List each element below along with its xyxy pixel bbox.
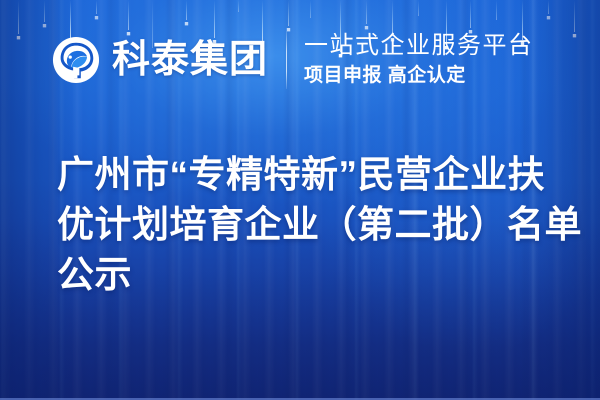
promo-banner: 科泰集团 一站式企业服务平台 项目申报 高企认定 广州市“专精特新”民营企业扶 … (0, 0, 600, 400)
header-divider (286, 31, 287, 89)
ketai-logo-icon (52, 36, 100, 84)
brand-name: 科泰集团 (112, 38, 268, 82)
banner-header: 科泰集团 一站式企业服务平台 项目申报 高企认定 (52, 28, 534, 92)
headline-line-3: 公示 (57, 250, 557, 300)
headline-line-2: 优计划培育企业（第二批）名单 (57, 200, 557, 250)
tagline-secondary: 项目申报 高企认定 (304, 63, 534, 89)
tagline-primary: 一站式企业服务平台 (304, 31, 534, 61)
tagline-block: 一站式企业服务平台 项目申报 高企认定 (304, 31, 534, 89)
headline: 广州市“专精特新”民营企业扶 优计划培育企业（第二批）名单 公示 (57, 150, 557, 300)
headline-line-1: 广州市“专精特新”民营企业扶 (57, 150, 557, 200)
